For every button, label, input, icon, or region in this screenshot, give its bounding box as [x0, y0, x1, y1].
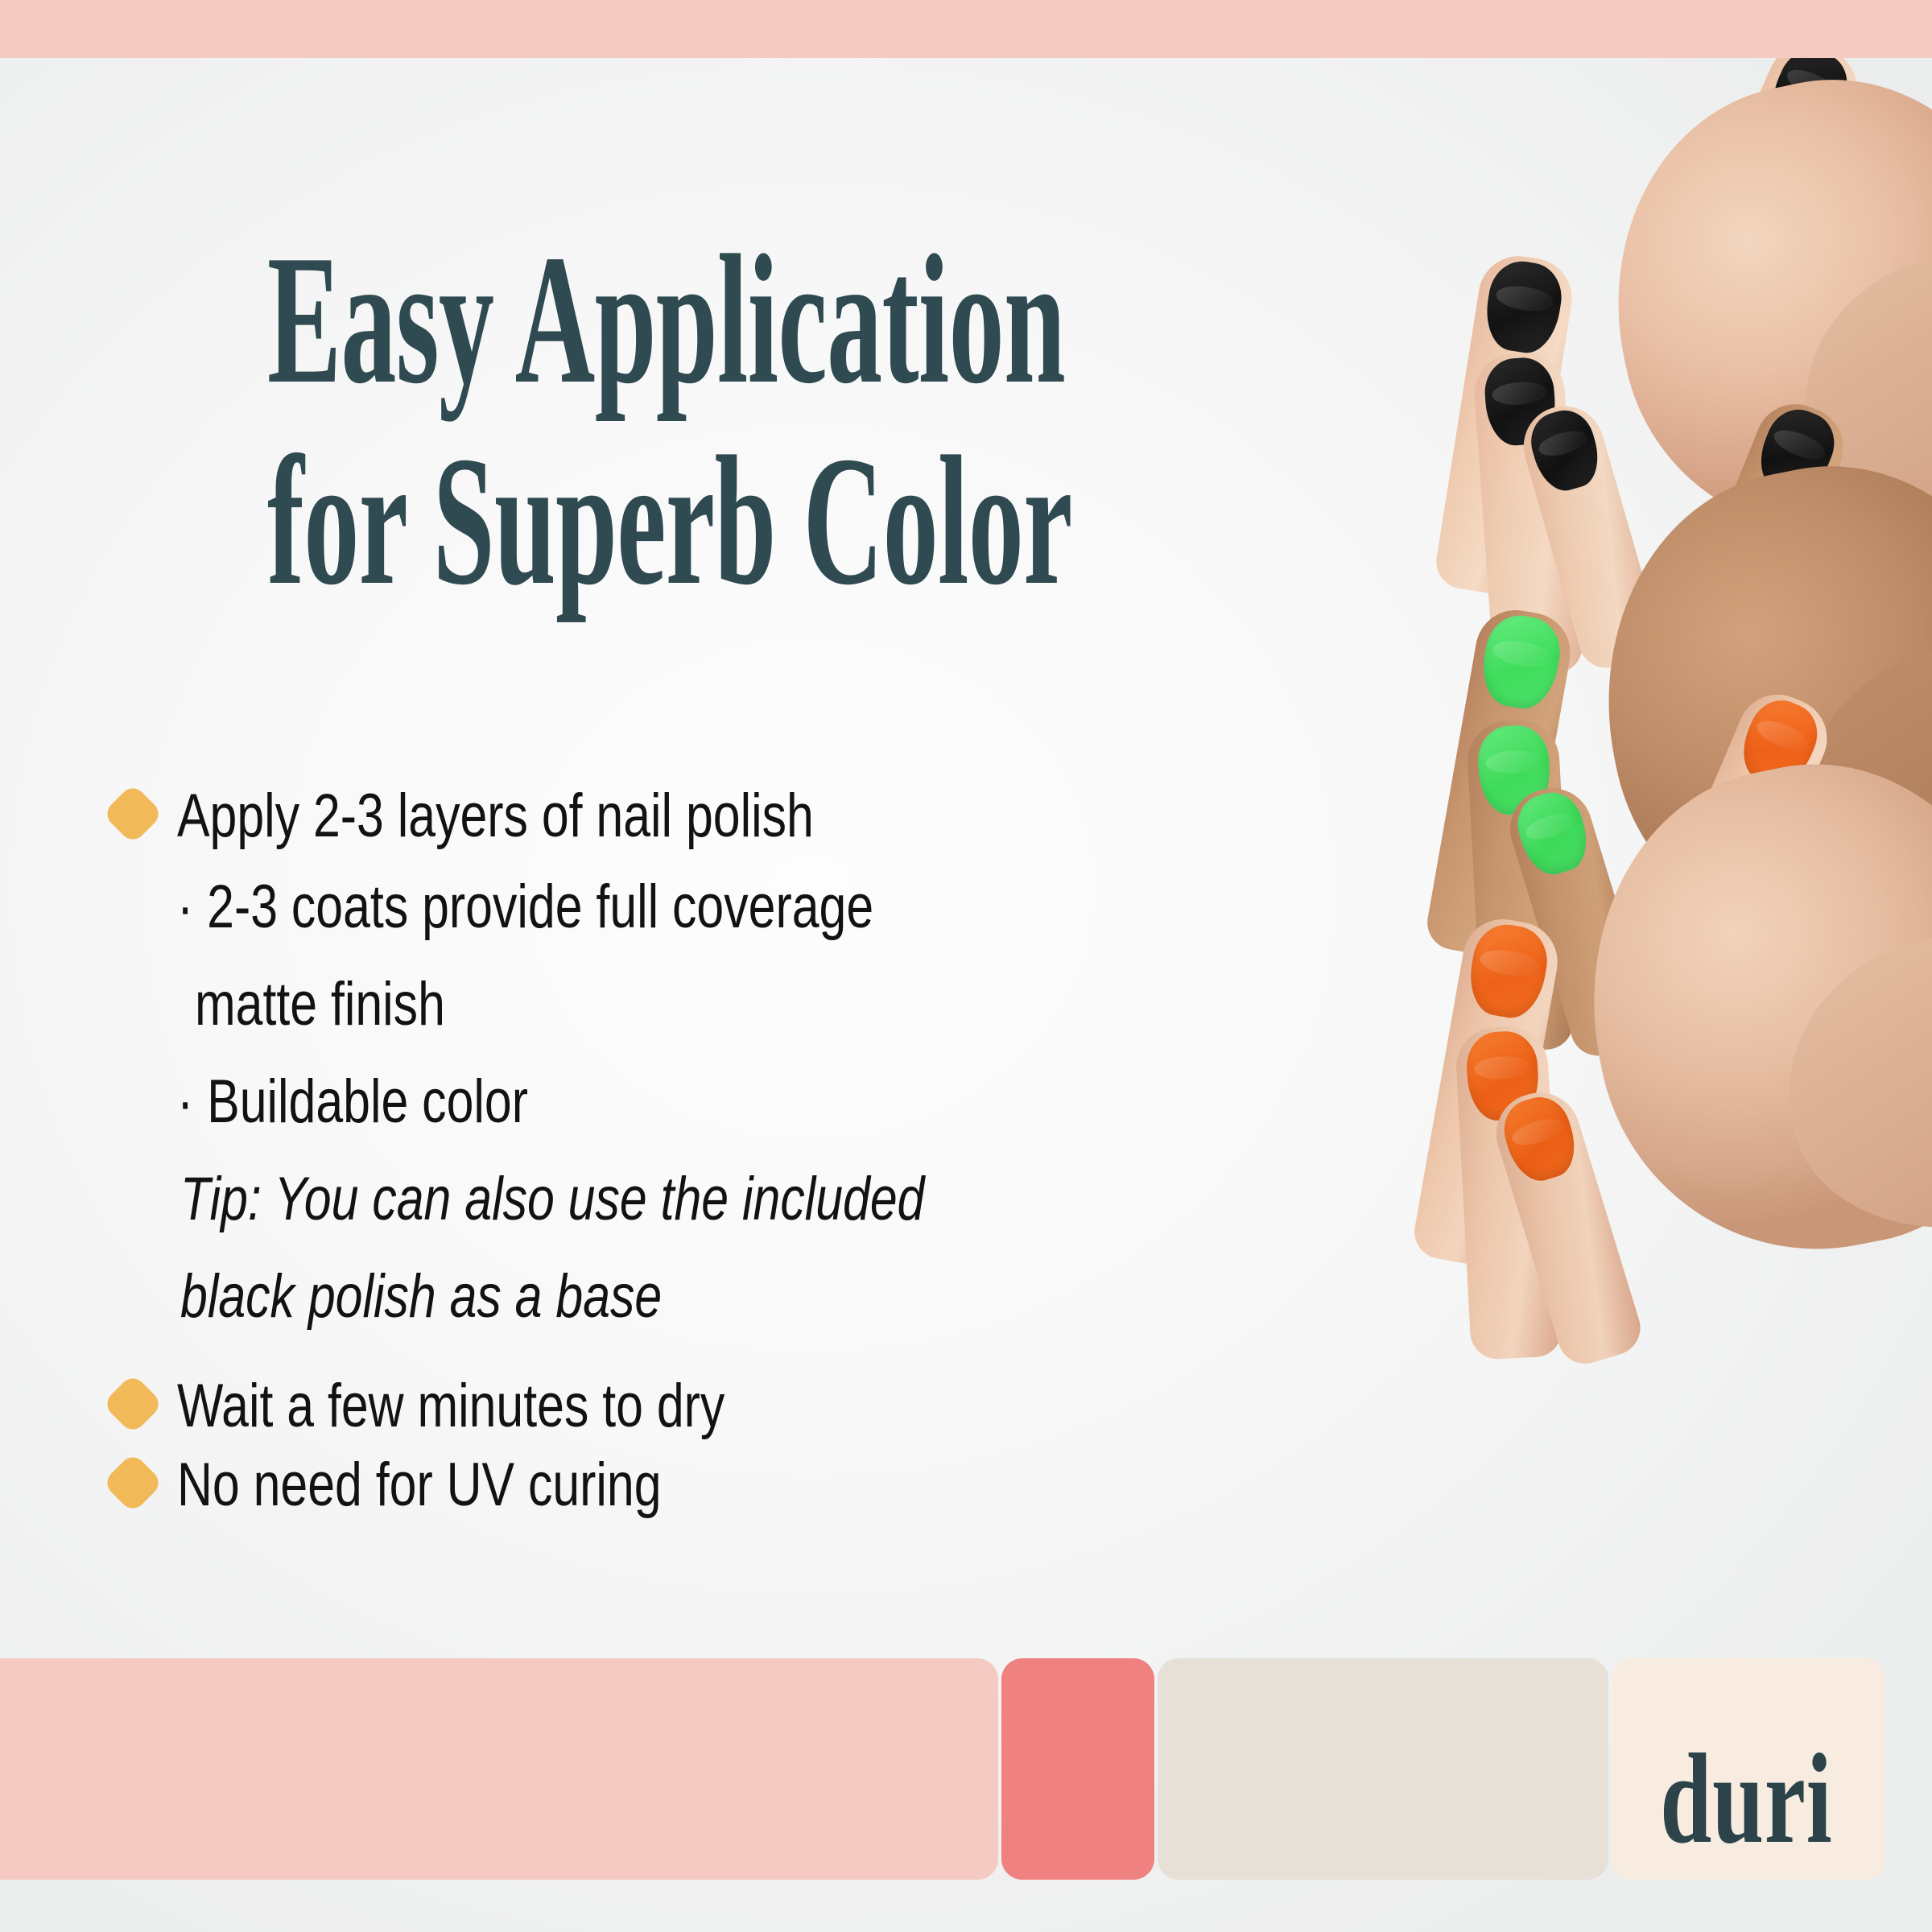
page-title: Easy Application for Superb Color	[267, 219, 847, 621]
tip-text-line-1: Tip: You can also use the included	[180, 1150, 1039, 1248]
diamond-bullet-icon	[102, 783, 163, 844]
instruction-list: Apply 2-3 layers of nail polish · 2-3 co…	[111, 779, 1254, 1527]
brand-logo: duri	[1660, 1738, 1832, 1859]
sub-list: · 2-3 coats provide full coverage matte …	[177, 858, 1254, 1345]
swatch-beige	[1158, 1658, 1608, 1880]
tip-text-line-2: black polish as a base	[180, 1248, 1039, 1345]
list-item: Wait a few minutes to dry	[111, 1369, 1254, 1443]
hand-orange-nails	[1216, 694, 1932, 1443]
nail-black	[1481, 257, 1567, 357]
sub-list-item-continuation: matte finish	[195, 956, 1042, 1053]
page-title-line-2: for Superb Color	[267, 420, 847, 621]
list-item-label: No need for UV curing	[177, 1448, 662, 1522]
infographic-poster: Easy Application for Superb Color Apply …	[0, 0, 1932, 1932]
list-item: No need for UV curing	[111, 1448, 1254, 1522]
top-accent-bar	[0, 0, 1932, 58]
hands-photo	[1207, 58, 1932, 1668]
page-title-line-1: Easy Application	[267, 219, 847, 420]
diamond-bullet-icon	[102, 1452, 163, 1513]
list-item-label: Apply 2-3 layers of nail polish	[177, 779, 814, 853]
list-item-label: Wait a few minutes to dry	[177, 1369, 724, 1443]
sub-list-item: · 2-3 coats provide full coverage	[177, 858, 1038, 956]
list-item: Apply 2-3 layers of nail polish	[111, 779, 1254, 853]
swatch-coral	[1001, 1658, 1154, 1880]
sub-list-item: · Buildable color	[177, 1053, 1038, 1150]
footer-swatch-bar: duri	[0, 1658, 1932, 1880]
diamond-bullet-icon	[102, 1373, 163, 1435]
swatch-pink	[0, 1658, 998, 1880]
nail-orange	[1496, 1090, 1583, 1188]
swatch-cream: duri	[1612, 1658, 1885, 1880]
nail-orange	[1463, 919, 1552, 1022]
